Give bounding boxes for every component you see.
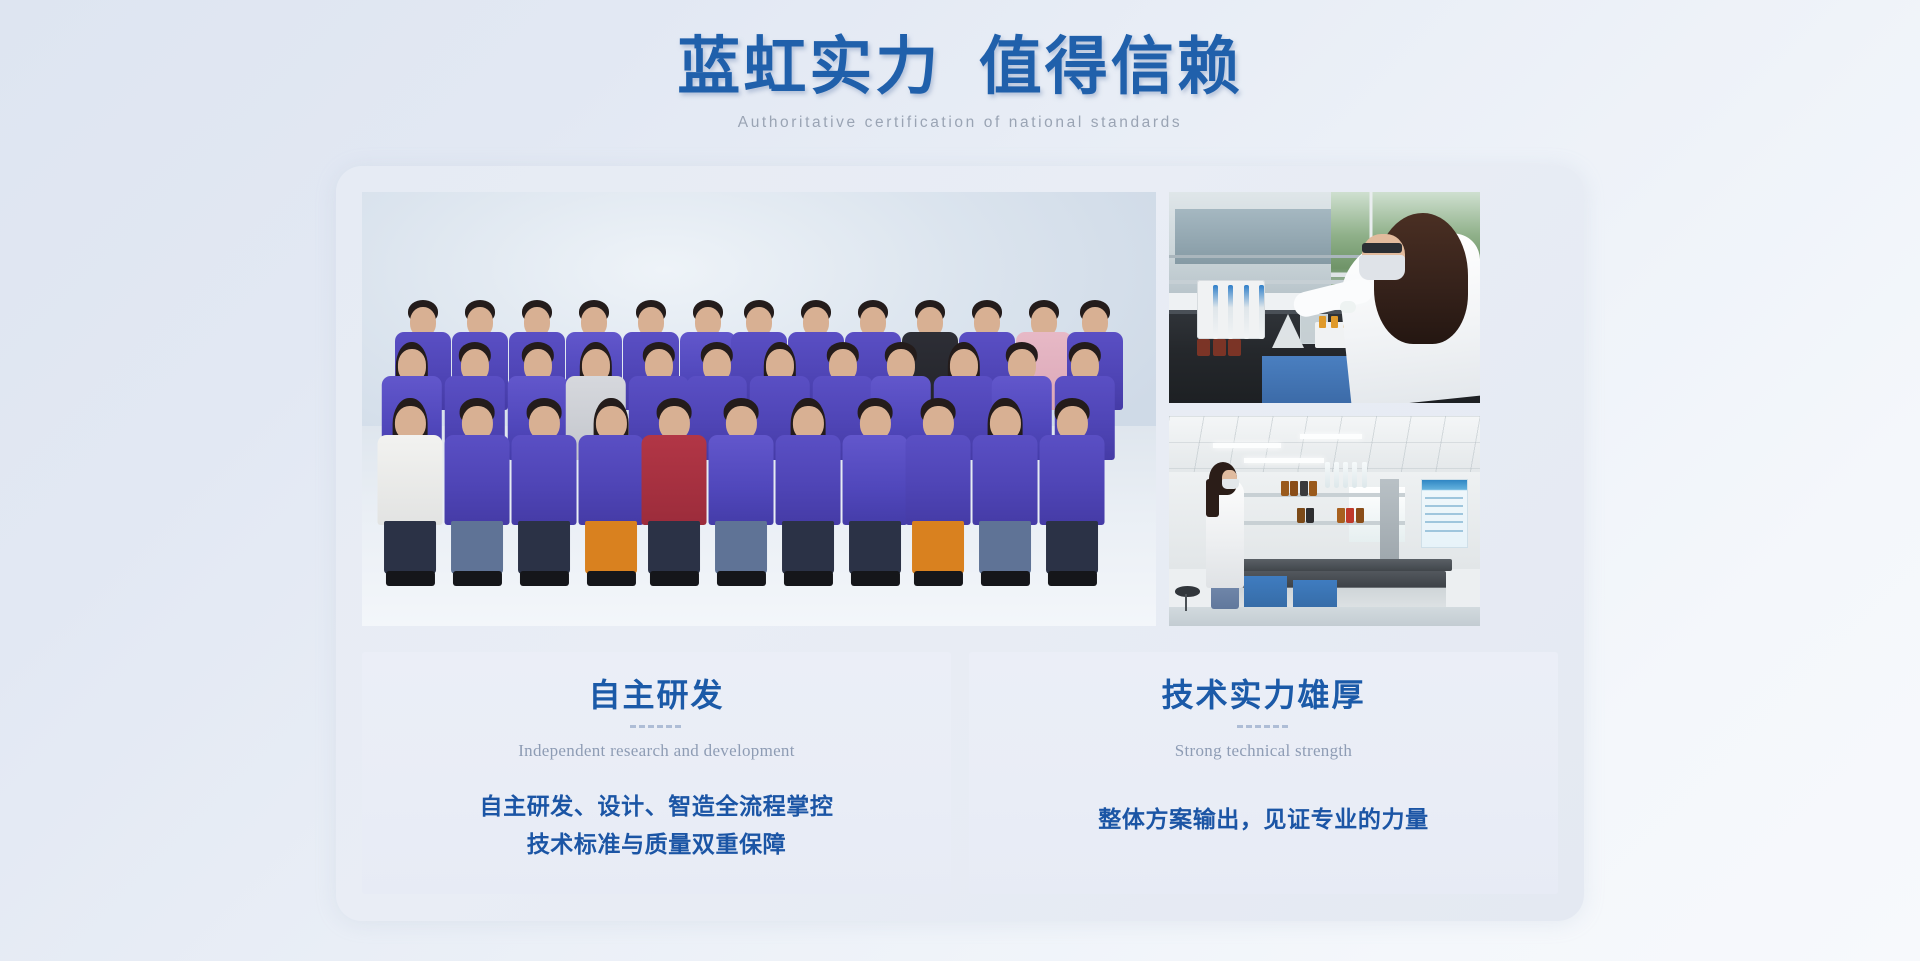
group-photo-person [973, 398, 1038, 593]
divider-dots [1237, 725, 1291, 728]
feature-card-title: 自主研发 [362, 676, 951, 714]
divider-dots [630, 725, 684, 728]
group-photo-person [512, 398, 577, 593]
media-grid [362, 192, 1558, 626]
side-photo-column [1169, 192, 1480, 626]
group-photo-person [709, 398, 774, 593]
group-photo-person [1040, 398, 1105, 593]
laboratory-room-scene [1169, 416, 1480, 627]
feature-card-description: 整体方案输出，见证专业的力量 [969, 801, 1558, 838]
feature-card-tech[interactable]: 技术实力雄厚 Strong technical strength 整体方案输出，… [969, 652, 1558, 894]
company-group-photo[interactable] [362, 192, 1156, 626]
group-photo-person [579, 398, 644, 593]
group-photo-person [378, 398, 443, 593]
feature-card-description: 自主研发、设计、智造全流程掌控 技术标准与质量双重保障 [362, 788, 951, 863]
group-photo-person [776, 398, 841, 593]
feature-card-subtitle: Independent research and development [362, 741, 951, 761]
content-panel: 自主研发 Independent research and developmen… [336, 166, 1584, 921]
group-photo-person [906, 398, 971, 593]
group-photo-person [642, 398, 707, 593]
laboratory-room-photo[interactable] [1169, 416, 1480, 627]
feature-cards: 自主研发 Independent research and developmen… [362, 652, 1558, 894]
page-title: 蓝虹实力 值得信赖 [0, 30, 1920, 104]
lab-technician-scene [1169, 192, 1480, 403]
group-photo-person [843, 398, 908, 593]
feature-card-subtitle: Strong technical strength [969, 741, 1558, 761]
page-subtitle: Authoritative certification of national … [0, 114, 1920, 132]
feature-card-rd[interactable]: 自主研发 Independent research and developmen… [362, 652, 951, 894]
group-photo-person [445, 398, 510, 593]
page-header: 蓝虹实力 值得信赖 Authoritative certification of… [0, 0, 1920, 132]
lab-technician-photo[interactable] [1169, 192, 1480, 403]
group-photo-people [362, 192, 1156, 626]
feature-card-title: 技术实力雄厚 [969, 676, 1558, 714]
